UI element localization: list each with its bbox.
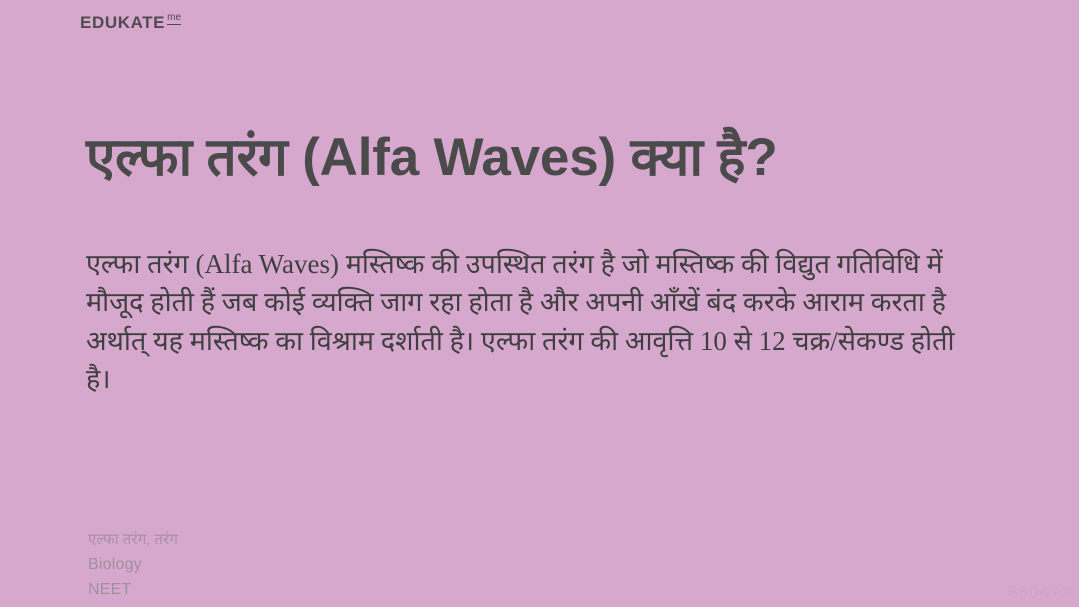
footer-exam: NEET xyxy=(88,579,178,601)
slide-title: एल्फा तरंग (Alfa Waves) क्या है? xyxy=(86,128,1006,187)
brand-suffix: me xyxy=(167,13,181,25)
footer-tags: एल्फा तरंग, तरंग xyxy=(88,530,178,550)
footer-metadata: एल्फा तरंग, तरंग Biology NEET xyxy=(88,530,178,601)
brand-logo: EDUKATE me xyxy=(80,14,181,31)
corner-watermark: 650473 xyxy=(1008,583,1071,603)
brand-name: EDUKATE xyxy=(80,14,165,31)
footer-subject: Biology xyxy=(88,554,178,576)
slide-canvas: EDUKATE me एल्फा तरंग (Alfa Waves) क्या … xyxy=(0,0,1079,607)
slide-body-text: एल्फा तरंग (Alfa Waves) मस्तिष्क की उपस्… xyxy=(86,245,966,398)
